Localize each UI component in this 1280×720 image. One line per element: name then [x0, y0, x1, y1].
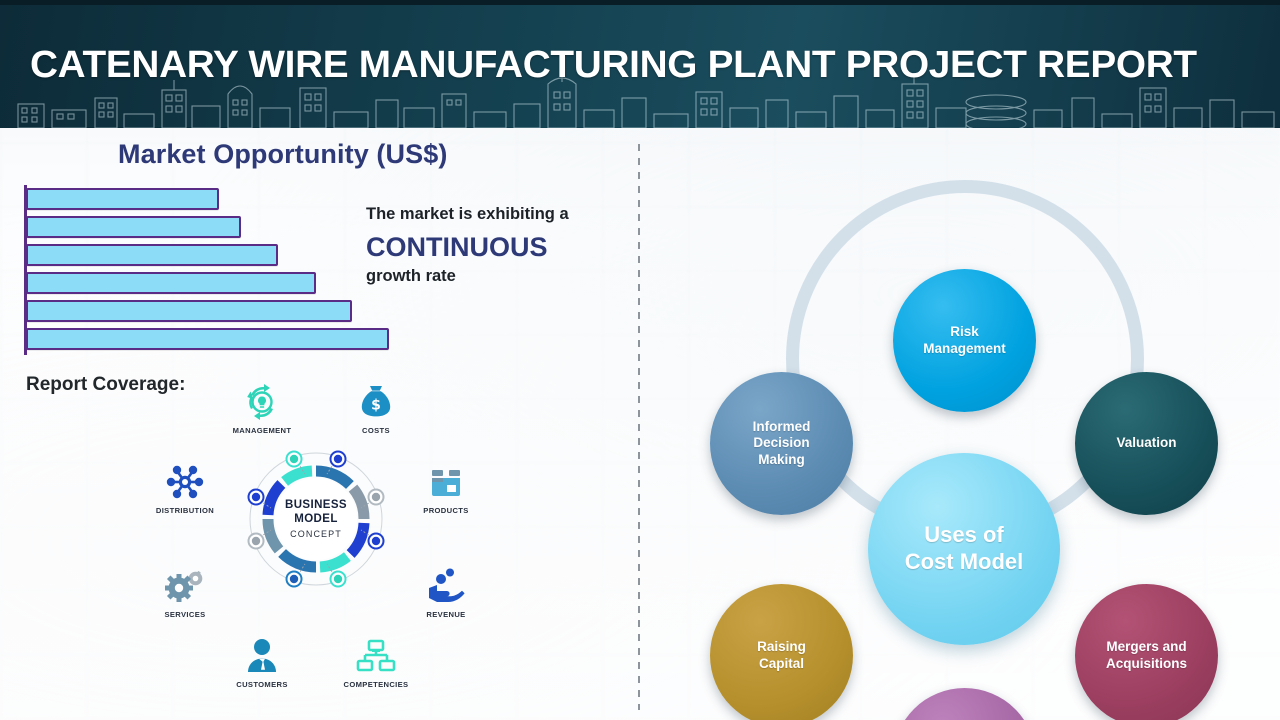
node-center-line1: Uses of — [899, 522, 1030, 549]
callout-line-1: The market is exhibiting a — [366, 204, 634, 225]
node-label-line2: Acquisitions — [1100, 656, 1193, 672]
coverage-item-distribution[interactable]: DISTRIBUTION — [139, 460, 231, 515]
node-label-line1: Raising — [751, 639, 812, 655]
table-row — [26, 216, 241, 238]
person-customer-icon — [216, 634, 308, 676]
vertical-dashed-divider — [638, 144, 640, 710]
coverage-item-label: PRODUCTS — [400, 506, 492, 515]
coverage-item-label: DISTRIBUTION — [139, 506, 231, 515]
svg-text:$: $ — [371, 398, 381, 414]
coverage-item-management[interactable]: MANAGEMENT — [216, 380, 308, 435]
node-center-line2: Cost Model — [899, 549, 1030, 576]
table-row — [26, 272, 316, 294]
table-row — [26, 328, 389, 350]
node-label-line3: Making — [747, 452, 817, 468]
node-label-line1: Risk — [917, 324, 1012, 340]
node-label-line1: Mergers and — [1100, 639, 1193, 655]
header-top-accent — [0, 0, 1280, 5]
coverage-item-costs[interactable]: $ COSTS — [330, 380, 422, 435]
coverage-item-revenue[interactable]: REVENUE — [400, 564, 492, 619]
page-title: CATENARY WIRE MANUFACTURING PLANT PROJEC… — [30, 44, 1197, 87]
hand-coins-icon — [400, 564, 492, 606]
node-valuation[interactable]: Valuation — [1075, 372, 1218, 515]
node-mergers-and-acquisitions[interactable]: Mergers and Acquisitions — [1075, 584, 1218, 720]
report-coverage-label: Report Coverage: — [26, 374, 185, 396]
money-bag-icon: $ — [330, 380, 422, 422]
node-label-line2: Capital — [751, 656, 812, 672]
coverage-item-label: COSTS — [330, 426, 422, 435]
coverage-item-customers[interactable]: CUSTOMERS — [216, 634, 308, 689]
coverage-item-label: SERVICES — [139, 610, 231, 619]
market-opportunity-bar-chart — [24, 185, 424, 355]
node-label-line1: Valuation — [1110, 435, 1182, 451]
coverage-item-label: REVENUE — [400, 610, 492, 619]
node-label-line2: Management — [917, 341, 1012, 357]
org-chart-icon — [330, 634, 422, 676]
callout-line-2: growth rate — [366, 267, 634, 287]
node-label-line1: Informed — [747, 419, 817, 435]
node-risk-management[interactable]: Risk Management — [893, 269, 1036, 412]
gears-icon — [139, 564, 231, 606]
coverage-item-label: CUSTOMERS — [216, 680, 308, 689]
page-header: CATENARY WIRE MANUFACTURING PLANT PROJEC… — [0, 0, 1280, 128]
market-opportunity-title: Market Opportunity (US$) — [118, 139, 447, 170]
node-informed-decision-making[interactable]: Informed Decision Making — [710, 372, 853, 515]
coverage-item-label: COMPETENCIES — [330, 680, 422, 689]
node-raising-capital[interactable]: Raising Capital — [710, 584, 853, 720]
product-box-icon — [400, 460, 492, 502]
table-row — [26, 188, 219, 210]
coverage-item-label: MANAGEMENT — [216, 426, 308, 435]
coverage-item-services[interactable]: SERVICES — [139, 564, 231, 619]
slide-body: Market Opportunity (US$) The market is e… — [0, 128, 1280, 720]
business-model-wheel: BUSINESS MODEL CONCEPT — [243, 446, 389, 592]
table-row — [26, 300, 352, 322]
table-row — [26, 244, 278, 266]
management-lightbulb-icon — [216, 380, 308, 422]
callout-emphasis: CONTINUOUS — [366, 227, 634, 268]
node-uses-of-cost-model[interactable]: Uses of Cost Model — [868, 453, 1060, 645]
coverage-item-products[interactable]: PRODUCTS — [400, 460, 492, 515]
network-nodes-icon — [139, 460, 231, 502]
node-label-line2: Decision — [747, 435, 817, 451]
coverage-item-competencies[interactable]: COMPETENCIES — [330, 634, 422, 689]
